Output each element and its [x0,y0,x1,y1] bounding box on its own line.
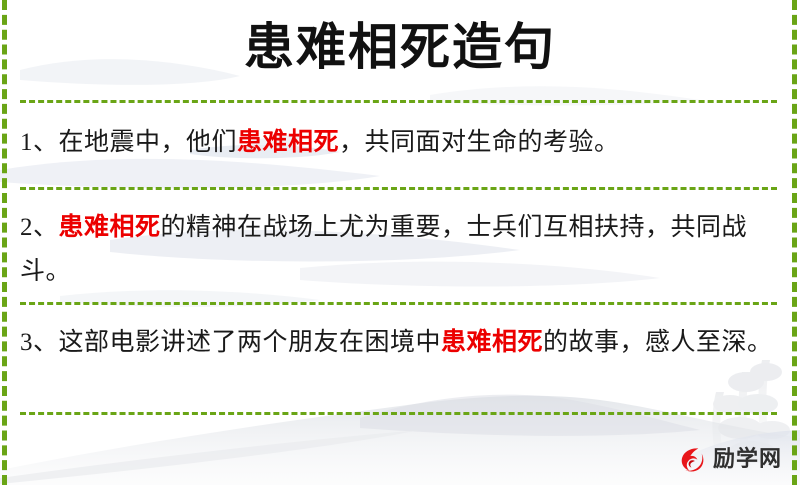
sentence-3-keyword: 患难相死 [441,327,543,356]
divider-4 [20,412,777,415]
brand-watermark[interactable]: 励学网 [677,445,782,475]
sentence-3-number: 3、 [20,329,59,356]
sentence-1-number: 1、 [20,129,59,156]
sentence-item-2: 2、患难相死的精神在战场上尤为重要，士兵们互相扶持，共同战斗。 [20,205,780,294]
sentence-item-1: 1、在地震中，他们患难相死，共同面对生命的考验。 [20,120,780,165]
divider-2 [20,187,777,190]
divider-3 [20,302,777,305]
red-swirl-logo-icon [677,445,707,475]
sentence-1-keyword: 患难相死 [237,127,339,156]
divider-1 [20,100,777,103]
slide-canvas: 患难相死造句 1、在地震中，他们患难相死，共同面对生命的考验。 2、患难相死的精… [0,0,800,485]
page-title: 患难相死造句 [0,14,800,80]
sentence-3-after: 的故事，感人至深。 [543,329,773,356]
sentence-item-3: 3、这部电影讲述了两个朋友在困境中患难相死的故事，感人至深。 [20,320,780,365]
sentence-1-before: 在地震中，他们 [59,129,238,156]
sentence-3-before: 这部电影讲述了两个朋友在困境中 [59,329,442,356]
brand-name: 励学网 [713,445,782,475]
sentence-2-keyword: 患难相死 [59,212,161,241]
sentence-1-after: ，共同面对生命的考验。 [339,129,620,156]
sentence-2-number: 2、 [20,214,59,241]
